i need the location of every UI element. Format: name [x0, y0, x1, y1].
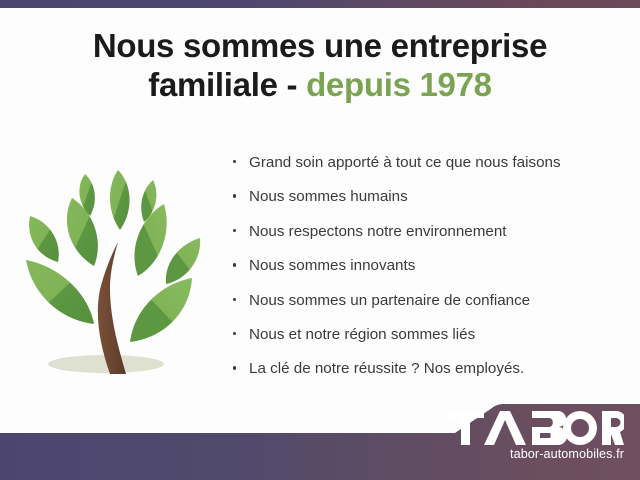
- list-item: Nous sommes innovants: [230, 253, 630, 287]
- title-line-1: Nous sommes une entreprise: [93, 27, 547, 64]
- leaf-upper-right: [134, 204, 166, 276]
- list-item: Nous et notre région sommes liés: [230, 322, 630, 356]
- brand-logo: tabor-automobiles.fr: [446, 411, 626, 461]
- bullet-dot-icon: [233, 160, 236, 163]
- tree-trunk: [98, 242, 126, 374]
- title-line-2-accent: depuis 1978: [306, 66, 492, 103]
- list-item-label: Nous respectons notre environnement: [249, 223, 507, 240]
- list-item: La clé de notre réussite ? Nos employés.: [230, 356, 630, 390]
- list-item-label: Grand soin apporté à tout ce que nous fa…: [249, 154, 561, 171]
- bullet-dot-icon: [233, 366, 236, 369]
- leaf-lower-left: [26, 260, 94, 324]
- title-line-2: familiale - depuis 1978: [0, 66, 640, 105]
- brand-website-label: tabor-automobiles.fr: [446, 447, 626, 461]
- page-title: Nous sommes une entreprise familiale - d…: [0, 27, 640, 105]
- leaf-mid-left: [29, 216, 59, 262]
- list-item-label: La clé de notre réussite ? Nos employés.: [249, 360, 524, 377]
- top-accent-strip: [0, 0, 640, 8]
- leaf-mid-right: [166, 238, 200, 284]
- list-item-label: Nous et notre région sommes liés: [249, 326, 475, 343]
- bullet-dot-icon: [233, 298, 236, 301]
- bullet-dot-icon: [233, 263, 236, 266]
- leaf-top-center: [110, 170, 130, 230]
- list-item: Grand soin apporté à tout ce que nous fa…: [230, 150, 630, 184]
- feature-list: Grand soin apporté à tout ce que nous fa…: [230, 150, 630, 391]
- list-item-label: Nous sommes humains: [249, 188, 408, 205]
- list-item: Nous sommes un partenaire de confiance: [230, 288, 630, 322]
- bullet-dot-icon: [233, 332, 236, 335]
- leaf-lower-right: [130, 278, 192, 342]
- bullet-dot-icon: [233, 194, 236, 197]
- list-item: Nous sommes humains: [230, 184, 630, 218]
- tree-illustration: [14, 142, 214, 388]
- list-item: Nous respectons notre environnement: [230, 219, 630, 253]
- tabor-wordmark-icon: [446, 411, 624, 445]
- bullet-dot-icon: [233, 229, 236, 232]
- slide-canvas: Nous sommes une entreprise familiale - d…: [0, 0, 640, 480]
- title-line-2-main: familiale -: [148, 66, 297, 103]
- list-item-label: Nous sommes un partenaire de confiance: [249, 292, 530, 309]
- list-item-label: Nous sommes innovants: [249, 257, 415, 274]
